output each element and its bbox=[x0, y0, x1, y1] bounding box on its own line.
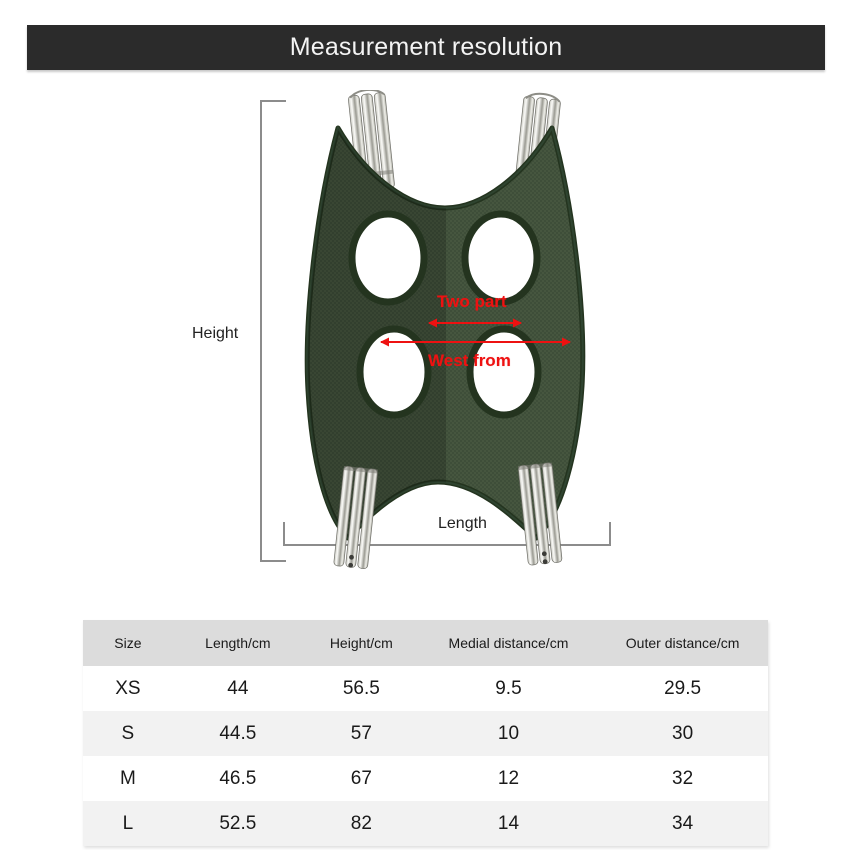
cell-length: 44 bbox=[173, 666, 303, 711]
height-label: Height bbox=[192, 325, 238, 343]
product-illustration bbox=[286, 90, 606, 570]
page-header-banner: Measurement resolution bbox=[27, 25, 825, 70]
cell-outer: 30 bbox=[597, 711, 768, 756]
column-header-length: Length/cm bbox=[173, 620, 303, 666]
leg-hole-top-right bbox=[465, 214, 537, 302]
height-bracket bbox=[260, 100, 286, 562]
cell-height: 67 bbox=[303, 756, 420, 801]
cell-outer: 34 bbox=[597, 801, 768, 846]
cell-size: XS bbox=[83, 666, 173, 711]
medial-distance-label: Two part bbox=[437, 292, 507, 312]
column-header-outer: Outer distance/cm bbox=[597, 620, 768, 666]
cell-height: 56.5 bbox=[303, 666, 420, 711]
cell-size: S bbox=[83, 711, 173, 756]
cell-medial: 10 bbox=[420, 711, 598, 756]
table-row: XS 44 56.5 9.5 29.5 bbox=[83, 666, 768, 711]
cell-medial: 12 bbox=[420, 756, 598, 801]
cell-length: 44.5 bbox=[173, 711, 303, 756]
leg-hole-bottom-left bbox=[360, 329, 428, 415]
cell-length: 52.5 bbox=[173, 801, 303, 846]
cell-medial: 14 bbox=[420, 801, 598, 846]
cell-outer: 29.5 bbox=[597, 666, 768, 711]
column-header-size: Size bbox=[83, 620, 173, 666]
cell-size: M bbox=[83, 756, 173, 801]
cell-height: 82 bbox=[303, 801, 420, 846]
cell-medial: 9.5 bbox=[420, 666, 598, 711]
cell-outer: 32 bbox=[597, 756, 768, 801]
table-row: S 44.5 57 10 30 bbox=[83, 711, 768, 756]
outer-distance-label: West from bbox=[428, 351, 511, 371]
cell-length: 46.5 bbox=[173, 756, 303, 801]
size-chart-table: Size Length/cm Height/cm Medial distance… bbox=[83, 620, 768, 846]
leg-hole-top-left bbox=[352, 214, 424, 302]
leg-hole-bottom-right bbox=[470, 329, 538, 415]
column-header-medial: Medial distance/cm bbox=[420, 620, 598, 666]
table-row: M 46.5 67 12 32 bbox=[83, 756, 768, 801]
cell-height: 57 bbox=[303, 711, 420, 756]
measurement-diagram: Height Length bbox=[0, 70, 850, 600]
table-row: L 52.5 82 14 34 bbox=[83, 801, 768, 846]
table-header-row: Size Length/cm Height/cm Medial distance… bbox=[83, 620, 768, 666]
cell-size: L bbox=[83, 801, 173, 846]
page-title: Measurement resolution bbox=[290, 33, 563, 62]
column-header-height: Height/cm bbox=[303, 620, 420, 666]
